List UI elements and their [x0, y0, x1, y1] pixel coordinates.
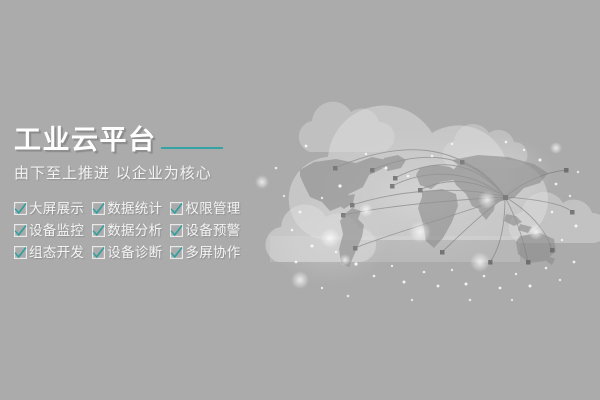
- check-icon: [170, 246, 183, 259]
- check-icon: [92, 202, 105, 215]
- feature-label: 组态开发: [29, 245, 84, 261]
- check-icon: [92, 224, 105, 237]
- check-icon: [92, 246, 105, 259]
- headline-block: 工业云平台 由下至上推进 以企业为核心 大屏展示: [14, 122, 284, 263]
- feature-list: 大屏展示 数据统计 权限管理: [14, 199, 284, 263]
- feature-item[interactable]: 权限管理: [170, 199, 240, 219]
- cloud-main-large: [289, 106, 548, 240]
- feature-item[interactable]: 多屏协作: [170, 243, 240, 263]
- feature-item[interactable]: 数据统计: [92, 199, 162, 219]
- feature-label: 设备监控: [29, 223, 84, 239]
- sparkle-particles: [255, 141, 579, 302]
- feature-label: 设备预警: [185, 223, 240, 239]
- cloud-top-right-small: [443, 124, 528, 168]
- page-title: 工业云平台: [14, 126, 157, 156]
- feature-label: 数据统计: [107, 201, 162, 217]
- feature-label: 大屏展示: [29, 201, 84, 217]
- feature-label: 数据分析: [107, 223, 162, 239]
- feature-item[interactable]: 设备诊断: [92, 243, 162, 263]
- page-subtitle: 由下至上推进 以企业为核心: [14, 163, 284, 183]
- feature-item[interactable]: 数据分析: [92, 221, 162, 241]
- check-icon: [170, 202, 183, 215]
- feature-label: 多屏协作: [185, 245, 240, 261]
- check-icon: [14, 224, 27, 237]
- feature-item[interactable]: 设备监控: [14, 221, 84, 241]
- cloud-top-left-small: [299, 102, 395, 152]
- feature-item[interactable]: 组态开发: [14, 243, 84, 263]
- world-map-landmasses: [300, 155, 556, 267]
- world-map-connections: [300, 150, 575, 267]
- check-icon: [14, 246, 27, 259]
- world-map-nodes: [333, 160, 575, 265]
- check-icon: [14, 202, 27, 215]
- title-row: 工业云平台: [14, 122, 284, 156]
- industrial-cloud-platform-banner: 工业云平台 由下至上推进 以企业为核心 大屏展示: [0, 0, 600, 400]
- feature-label: 设备诊断: [107, 245, 162, 261]
- title-accent-rule: [161, 147, 223, 149]
- feature-item[interactable]: 大屏展示: [14, 199, 84, 219]
- cloud-group: [265, 102, 600, 262]
- feature-label: 权限管理: [185, 201, 240, 217]
- world-map-arcs: [335, 150, 572, 262]
- feature-item[interactable]: 设备预警: [170, 221, 240, 241]
- cloud-right: [509, 192, 600, 243]
- check-icon: [170, 224, 183, 237]
